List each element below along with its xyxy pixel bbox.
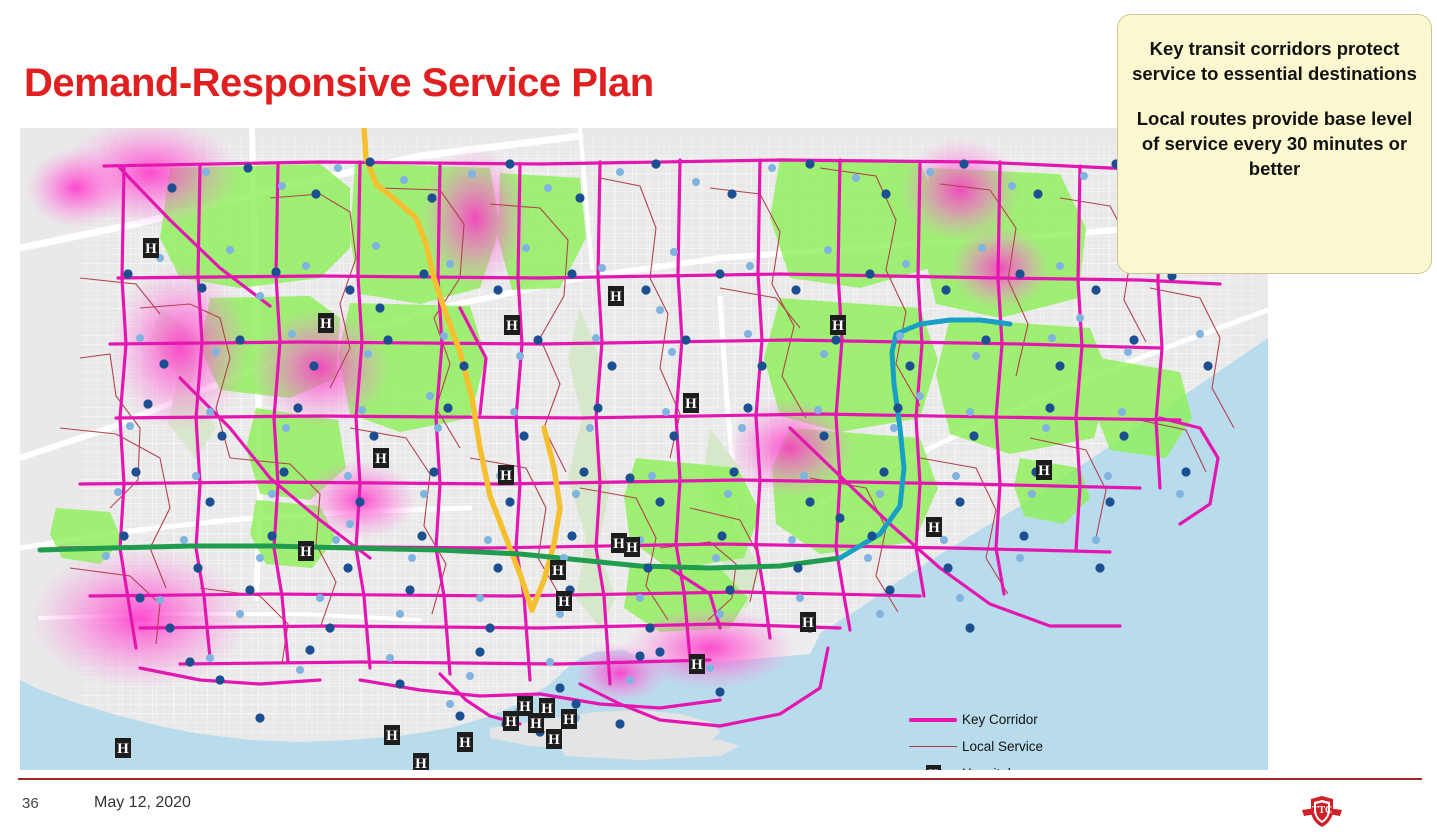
svg-text:H: H (459, 735, 471, 751)
svg-text:H: H (300, 544, 312, 560)
svg-text:H: H (802, 615, 814, 631)
legend-label: Key Corridor (962, 712, 1038, 727)
svg-text:H: H (613, 536, 625, 552)
svg-text:H: H (1038, 463, 1050, 479)
svg-text:H: H (375, 451, 387, 467)
callout-spacer (1132, 87, 1417, 107)
svg-text:H: H (832, 318, 844, 334)
svg-text:H: H (415, 756, 427, 770)
svg-text:H: H (386, 728, 398, 744)
svg-text:H: H (610, 289, 622, 305)
svg-text:H: H (500, 468, 512, 484)
hospital-glyph: H (926, 765, 941, 770)
legend-item-hospital: H Hospital (904, 760, 1194, 770)
transit-map[interactable]: H H H H H H H H H H H H H H H H H H H H … (20, 128, 1268, 770)
svg-text:H: H (145, 241, 157, 257)
svg-text:H: H (320, 316, 332, 332)
legend-item-key-corridor: Key Corridor (904, 706, 1194, 733)
svg-text:H: H (691, 657, 703, 673)
svg-text:H: H (530, 716, 542, 732)
svg-text:H: H (506, 318, 518, 334)
svg-text:H: H (541, 701, 553, 717)
legend-label: Local Service (962, 739, 1043, 754)
page-title: Demand-Responsive Service Plan (24, 61, 654, 106)
svg-text:H: H (117, 741, 129, 757)
svg-text:H: H (563, 712, 575, 728)
hospital-markers-layer: H H H H H H H H H H H H H H H H H H H H … (20, 128, 1268, 770)
callout-box: Key transit corridors protect service to… (1117, 14, 1432, 274)
legend-label: Hospital (962, 766, 1011, 770)
svg-text:TTC: TTC (1312, 805, 1333, 816)
callout-paragraph-2: Local routes provide base level of servi… (1132, 107, 1417, 182)
footer-divider (18, 778, 1422, 780)
local-service-swatch (904, 746, 962, 748)
key-corridor-swatch (904, 718, 962, 722)
ttc-logo: TTC (1298, 791, 1346, 831)
svg-text:H: H (519, 699, 531, 715)
callout-paragraph-1: Key transit corridors protect service to… (1132, 37, 1417, 87)
page-number: 36 (22, 795, 39, 812)
svg-text:H: H (626, 540, 638, 556)
svg-text:H: H (505, 714, 517, 730)
svg-text:H: H (552, 563, 564, 579)
footer-date: May 12, 2020 (94, 794, 191, 812)
svg-text:H: H (928, 520, 940, 536)
svg-text:H: H (548, 732, 560, 748)
svg-text:H: H (685, 396, 697, 412)
hospital-icon: H (904, 765, 962, 770)
legend-item-local-service: Local Service (904, 733, 1194, 760)
map-legend: Key Corridor Local Service H Hospital Gr… (904, 706, 1194, 770)
svg-text:H: H (558, 594, 570, 610)
